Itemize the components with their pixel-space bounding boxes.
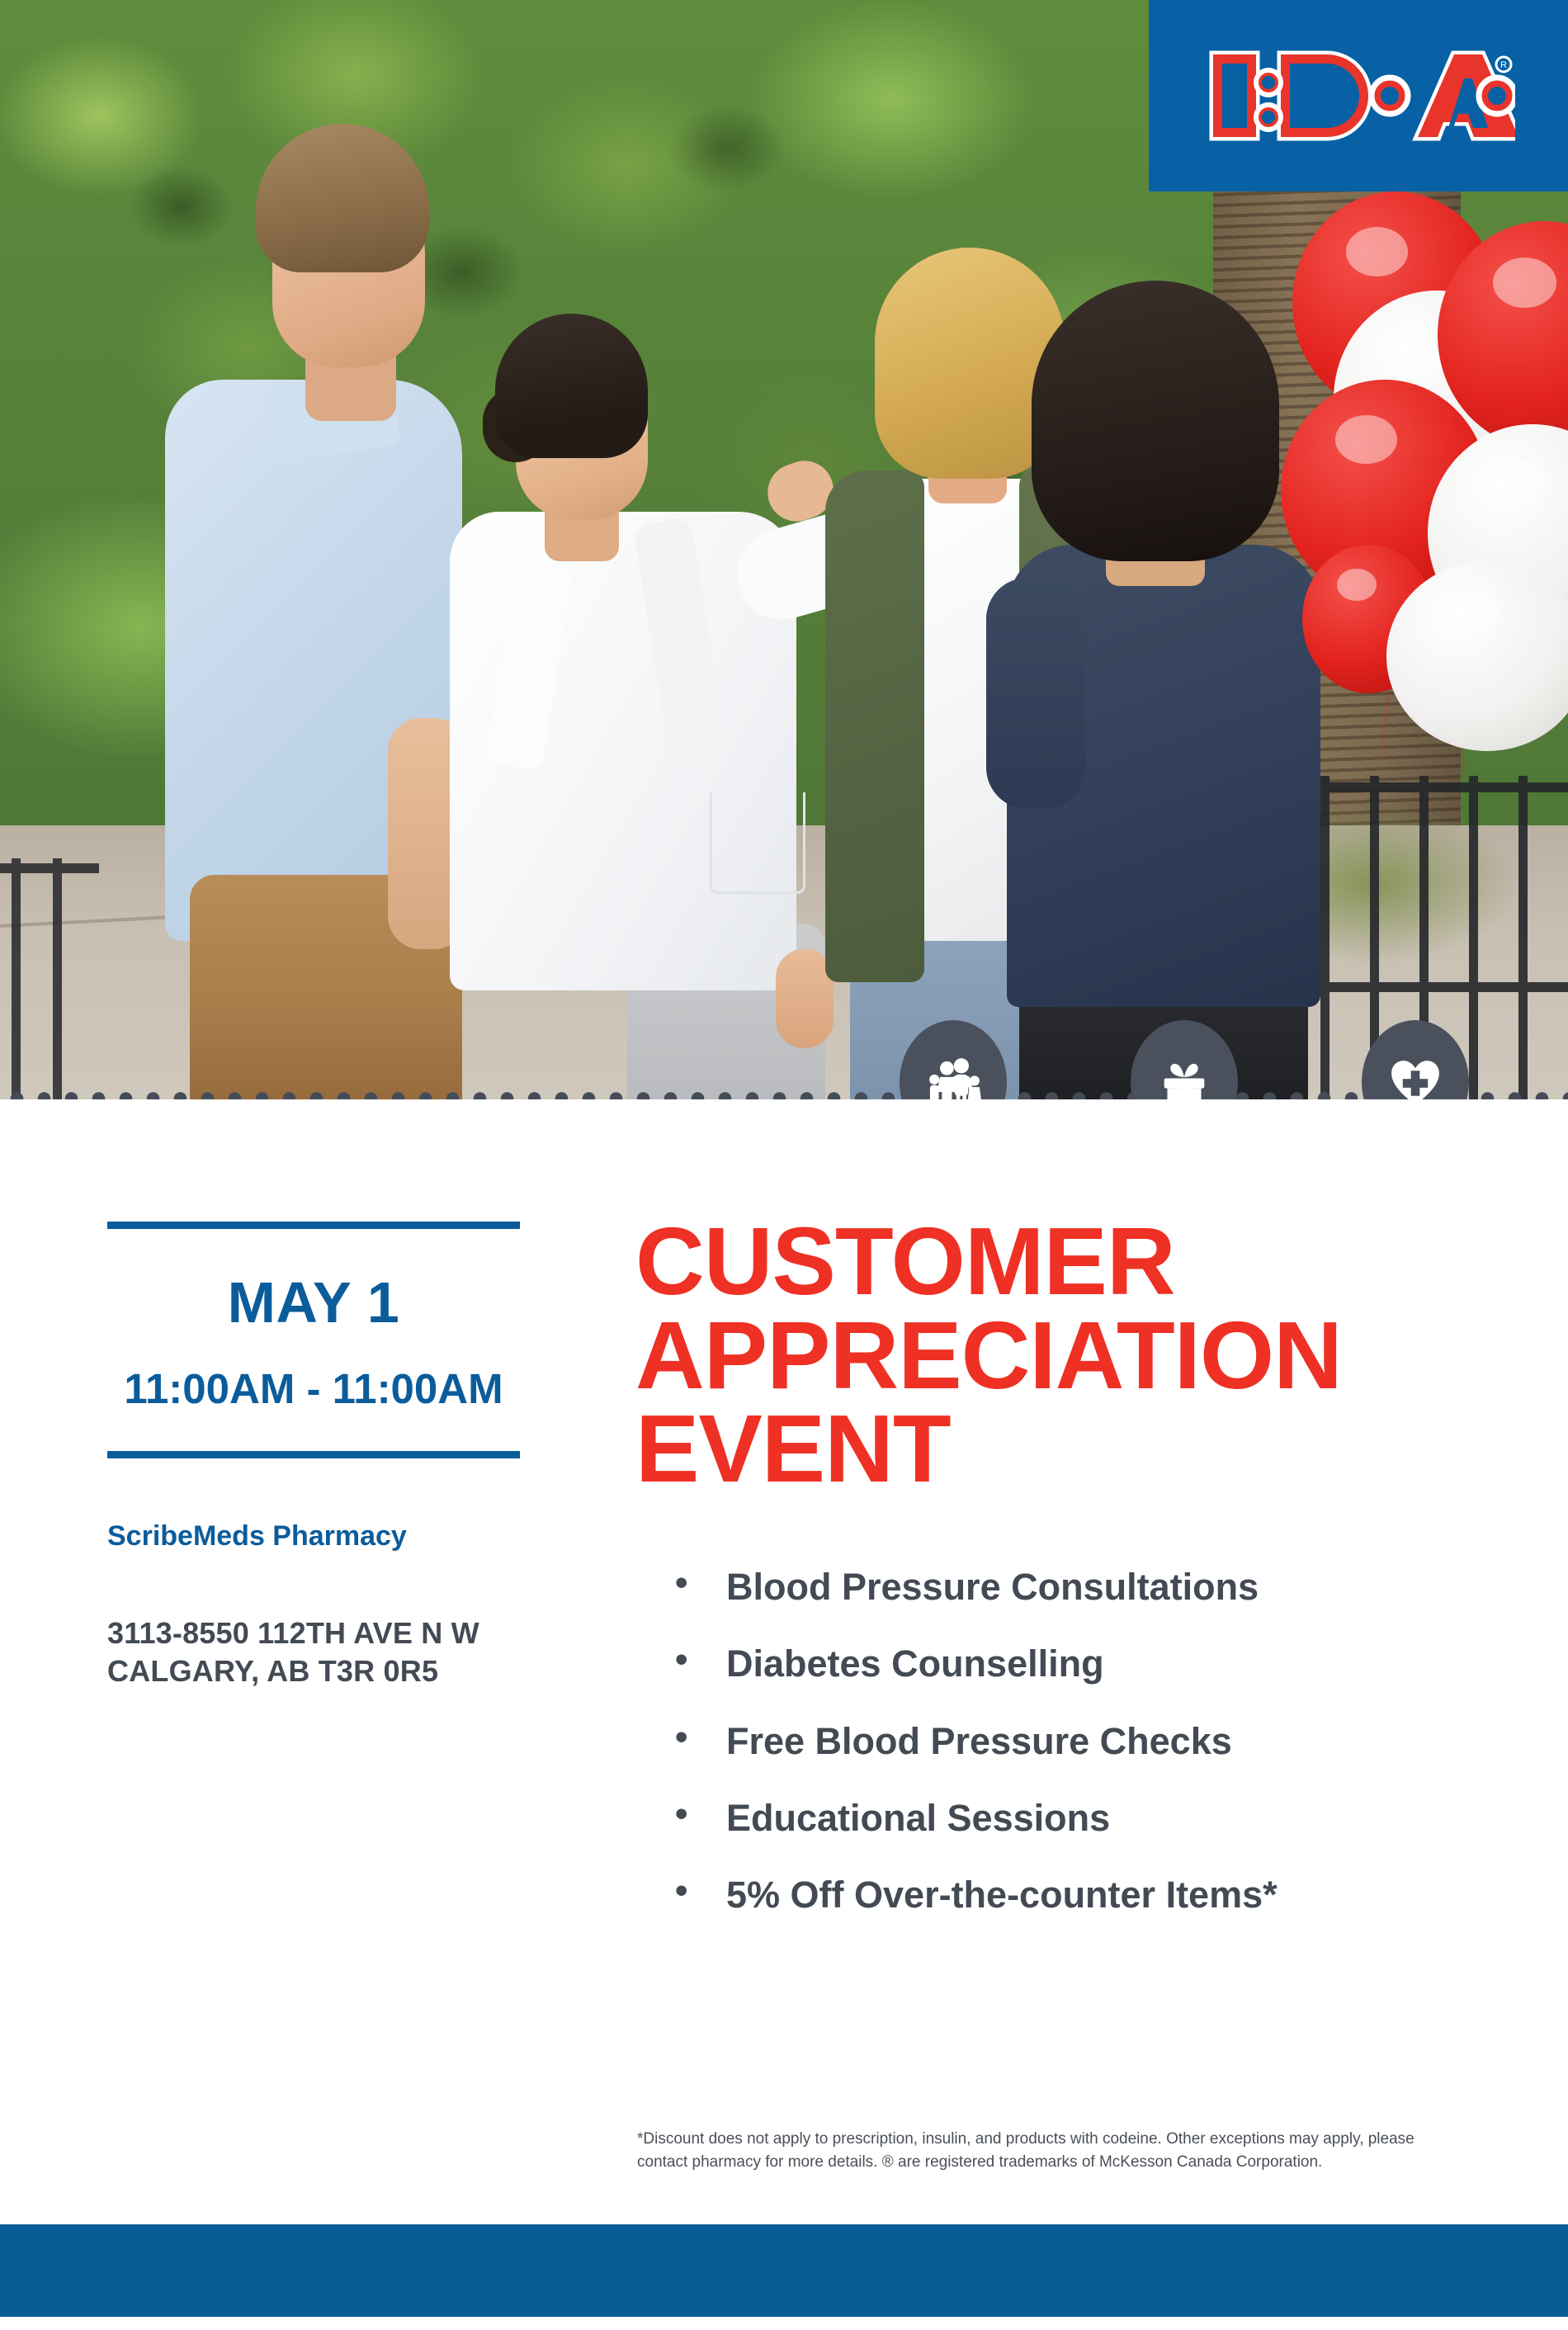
- disclaimer-text: *Discount does not apply to prescription…: [637, 2128, 1462, 2173]
- headline-line-2: APPRECIATION: [635, 1309, 1494, 1403]
- footer-white-strip: [0, 2317, 1568, 2330]
- list-item: Blood Pressure Consultations: [635, 1567, 1494, 1606]
- address-line-1: 3113-8550 112TH AVE N W: [107, 1614, 520, 1652]
- event-details-column: MAY 1 11:00AM - 11:00AM ScribeMeds Pharm…: [107, 1222, 520, 1690]
- list-item: Free Blood Pressure Checks: [635, 1722, 1494, 1760]
- store-name: ScribeMeds Pharmacy: [107, 1519, 520, 1553]
- footer-bar: [0, 2224, 1568, 2317]
- rule-top: [107, 1222, 520, 1229]
- iron-fence-left: [0, 858, 99, 1099]
- main-column: CUSTOMER APPRECIATION EVENT Blood Pressu…: [635, 1215, 1494, 1952]
- svg-text:R: R: [1500, 60, 1507, 70]
- ida-logo-mark: R: [1202, 41, 1515, 150]
- content-area: MAY 1 11:00AM - 11:00AM ScribeMeds Pharm…: [0, 1099, 1568, 2224]
- list-item: Educational Sessions: [635, 1798, 1494, 1837]
- list-item: Diabetes Counselling: [635, 1644, 1494, 1683]
- event-date: MAY 1: [107, 1274, 520, 1331]
- page-title: CUSTOMER APPRECIATION EVENT: [635, 1215, 1494, 1496]
- event-poster: R: [0, 0, 1568, 2330]
- list-item: 5% Off Over-the-counter Items*: [635, 1875, 1494, 1914]
- address-line-2: CALGARY, AB T3R 0R5: [107, 1652, 520, 1690]
- hero-photo: R: [0, 0, 1568, 1099]
- event-time: 11:00AM - 11:00AM: [107, 1368, 520, 1410]
- store-address: 3113-8550 112TH AVE N W CALGARY, AB T3R …: [107, 1614, 520, 1690]
- headline-line-3: EVENT: [635, 1402, 1494, 1496]
- offer-list: Blood Pressure Consultations Diabetes Co…: [635, 1567, 1494, 1914]
- rule-bottom: [107, 1451, 520, 1458]
- headline-line-1: CUSTOMER: [635, 1215, 1494, 1309]
- ida-logo: R: [1149, 0, 1568, 191]
